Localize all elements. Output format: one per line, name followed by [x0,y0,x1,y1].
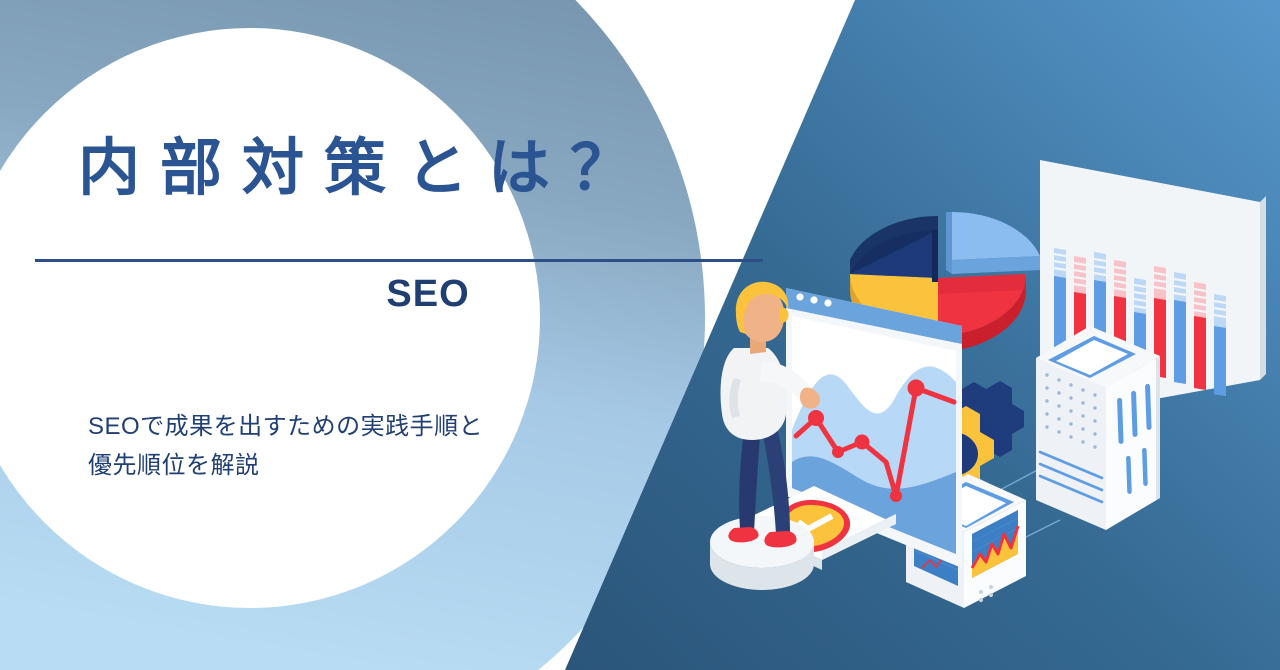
lead-line-2: 優先順位を解説 [88,447,618,486]
subtitle-label: SEO [78,273,778,316]
lead-line-1: SEOで成果を出すための実践手順と [88,408,618,447]
page-title: 内部対策とは？ [78,134,778,203]
poster-canvas: 内部対策とは？ SEO SEOで成果を出すための実践手順と 優先順位を解説 [0,0,1280,670]
server-tower [1036,326,1160,530]
title-divider [35,259,763,262]
text-content-block: 内部対策とは？ SEO SEOで成果を出すための実践手順と 優先順位を解説 [0,0,790,670]
lead-paragraph: SEOで成果を出すための実践手順と 優先順位を解説 [88,408,618,486]
